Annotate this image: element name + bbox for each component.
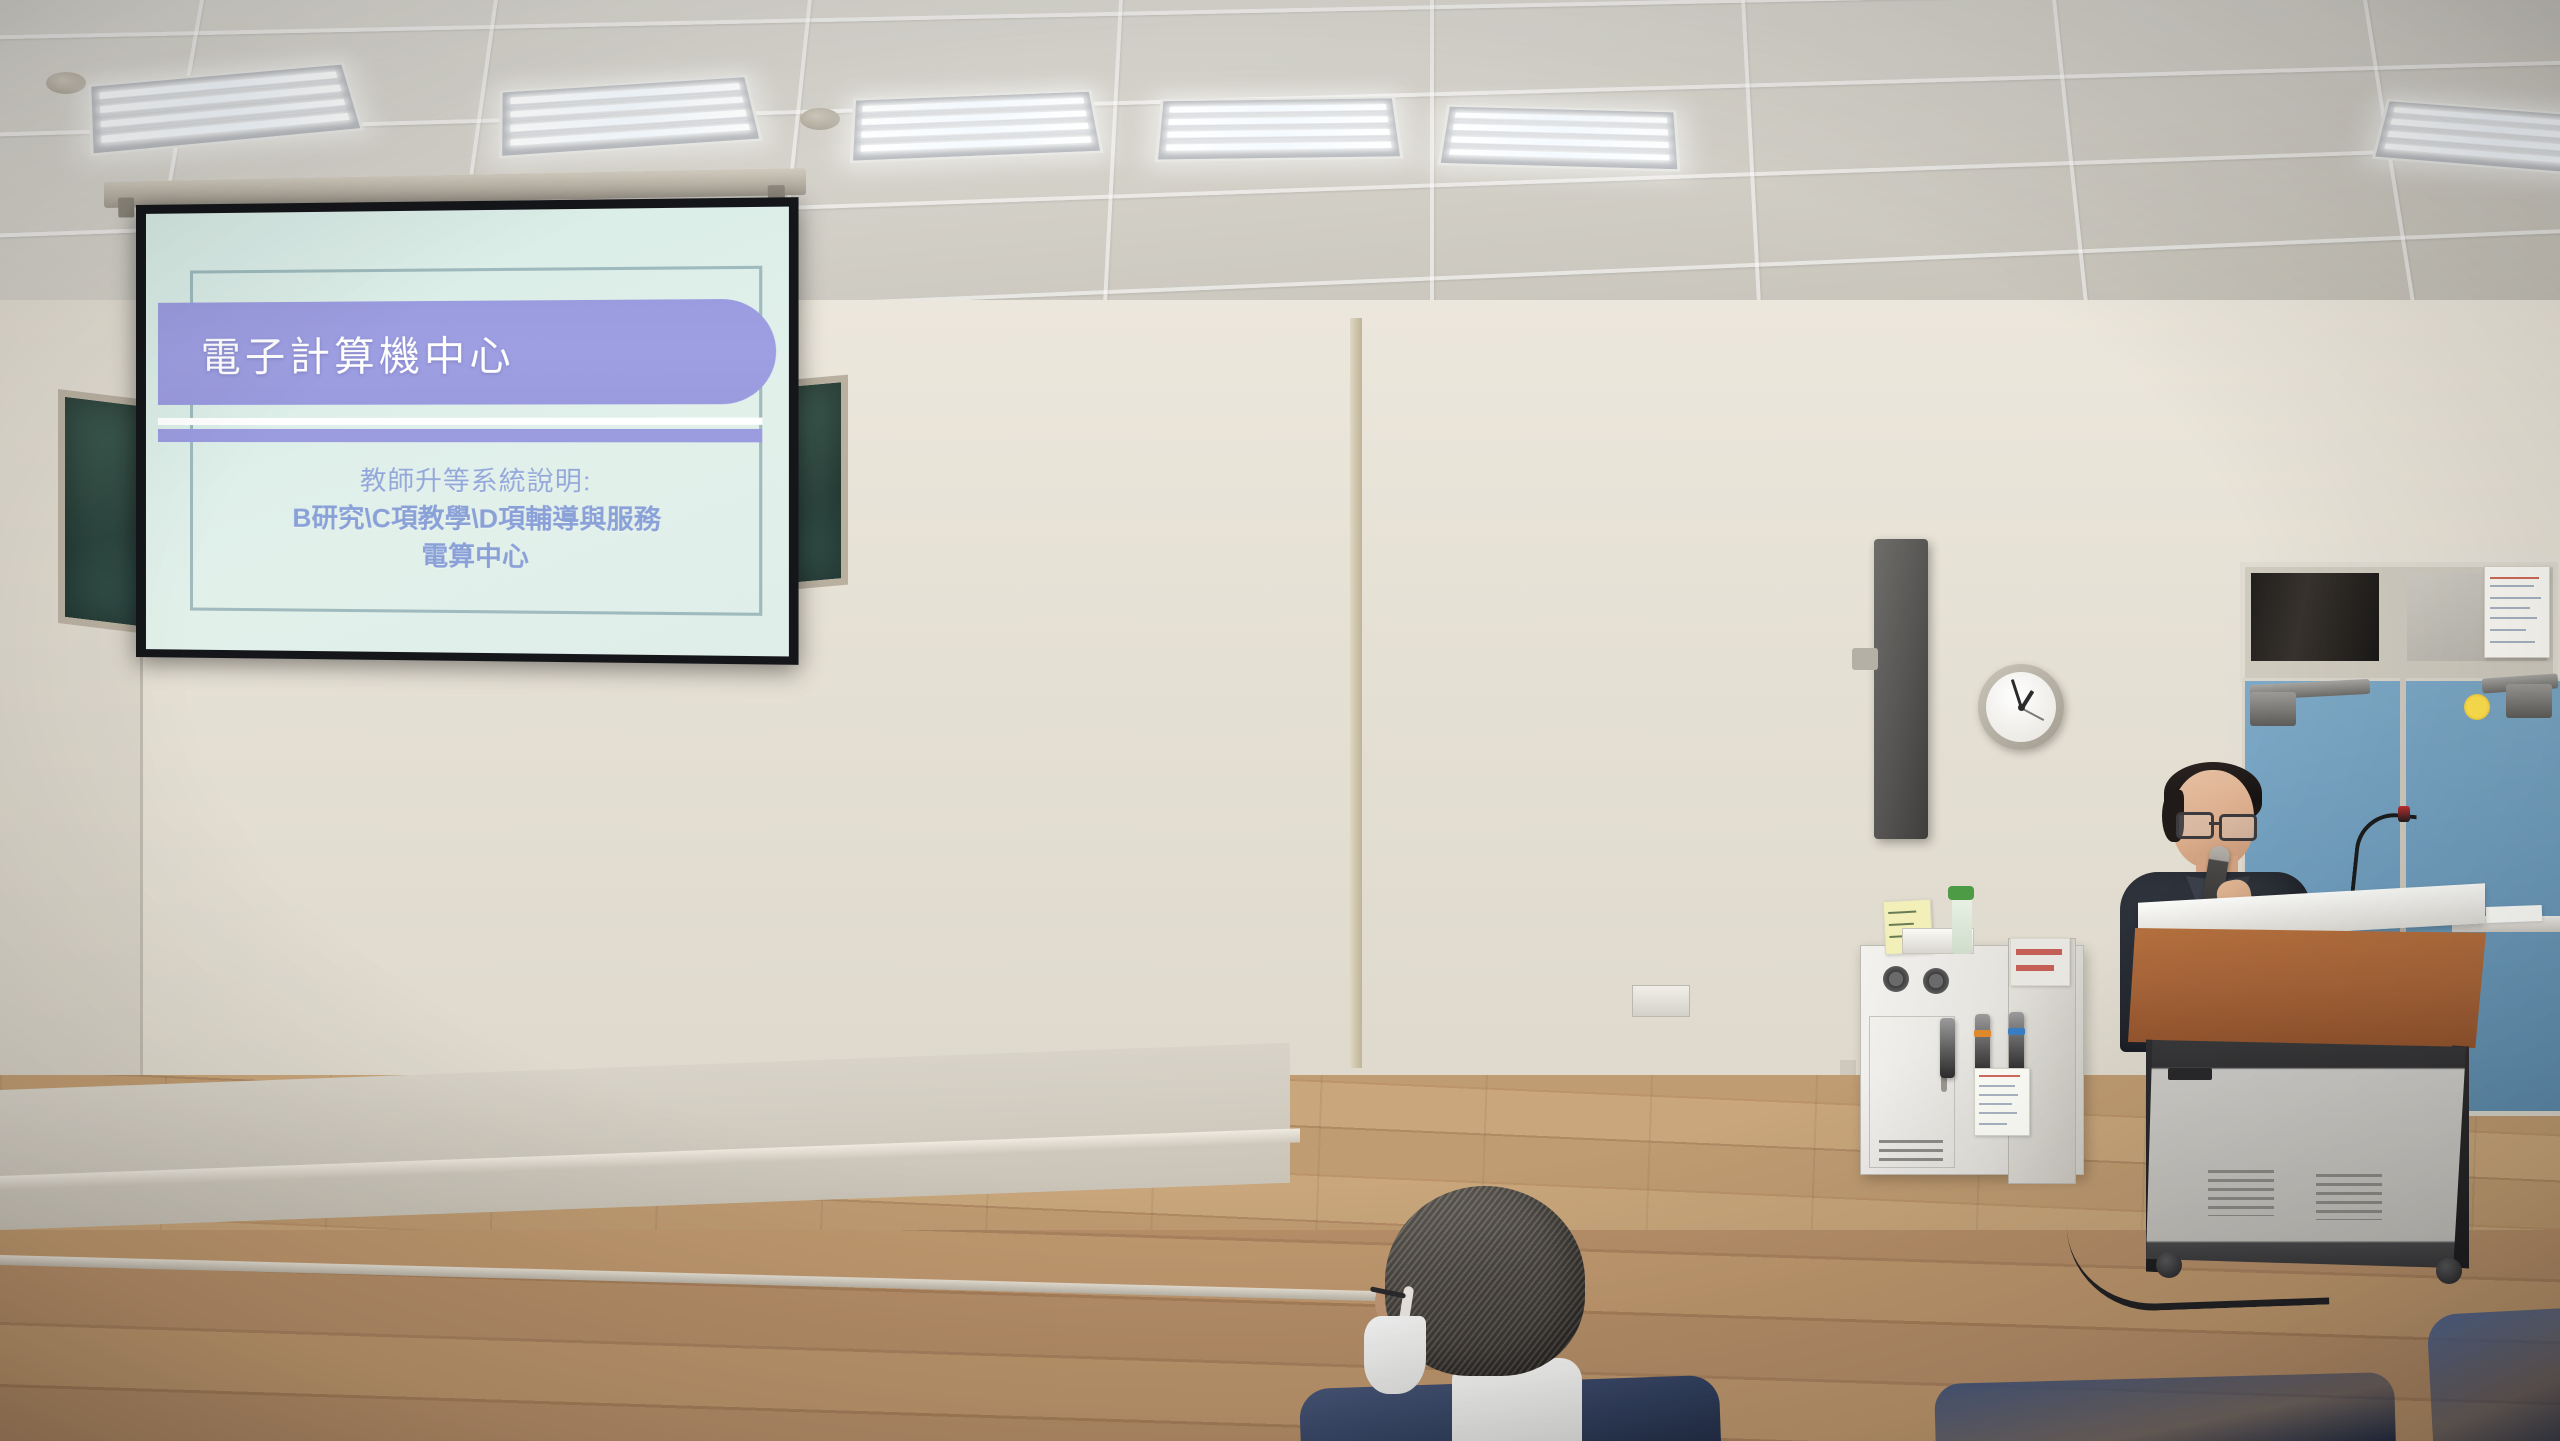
wooden-podium (2128, 928, 2486, 1048)
wall-conduit (1350, 318, 1362, 1068)
podium-vent-right (2316, 1174, 2382, 1220)
microphone-3[interactable] (2009, 1012, 2024, 1072)
spray-bottle (1952, 896, 1972, 954)
face-mask (1364, 1316, 1426, 1394)
slide-banner-underline (158, 418, 762, 425)
microphone-ring-blue (2008, 1028, 2025, 1035)
ceiling-light (2372, 99, 2560, 178)
wall-notice-poster (2484, 566, 2550, 658)
door-closer-body (2506, 684, 2552, 718)
door-sticker-icon (2464, 694, 2490, 720)
cabinet-notice-red (2010, 938, 2070, 986)
presenter-glasses-bridge (2209, 822, 2221, 825)
microphone-ring-orange (1974, 1030, 1991, 1037)
smoke-detector-icon (800, 108, 840, 130)
microphone-1[interactable] (1940, 1018, 1955, 1078)
cabinet-vent (1879, 1140, 1943, 1166)
podium-drawer-handle[interactable] (2168, 1068, 2212, 1080)
microphone-2[interactable] (1975, 1014, 1990, 1074)
ceiling-light (1437, 105, 1680, 172)
slide-surface: 電子計算機中心 教師升等系統說明: B研究\C項教學\D項輔導與服務 電算中心 (146, 207, 789, 657)
ceiling-light (850, 90, 1104, 163)
slide-subtitle: 教師升等系統說明: B研究\C項教學\D項輔導與服務 電算中心 (196, 462, 762, 577)
gooseneck-mic-head (2398, 806, 2410, 822)
slide-banner-strip (158, 429, 762, 442)
paper-on-table (2486, 905, 2543, 923)
cabinet-fan-icon (1883, 966, 1909, 992)
presenter-glasses (2219, 814, 2257, 841)
podium-vent-left (2208, 1170, 2274, 1216)
transom-pane-dark (2251, 573, 2379, 661)
ceiling-light (1155, 96, 1404, 162)
speaker-bracket (1852, 648, 1878, 670)
slide-title: 電子計算機中心 (200, 323, 514, 383)
podium-caster (2436, 1258, 2462, 1284)
slide-title-banner: 電子計算機中心 (158, 299, 775, 405)
wall-speaker (1874, 539, 1928, 839)
projection-screen: 電子計算機中心 教師升等系統說明: B研究\C項教學\D項輔導與服務 電算中心 (136, 197, 799, 665)
slide-subtitle-line-2: B研究\C項教學\D項輔導與服務 (196, 499, 762, 539)
clock-center-pin (2018, 704, 2025, 711)
slide-subtitle-line-3: 電算中心 (196, 536, 762, 577)
cabinet-notice-blue (1974, 1068, 2030, 1136)
clock-face (1986, 672, 2056, 742)
presenter-glasses (2176, 812, 2214, 839)
ceiling-light (499, 75, 763, 158)
smoke-detector-icon (46, 72, 86, 94)
audience-chair (1934, 1372, 2396, 1441)
cabinet-fan-icon (1923, 968, 1949, 994)
wall-outlet (1632, 985, 1690, 1017)
wall-clock (1978, 664, 2064, 750)
audience-chair (2426, 1305, 2560, 1441)
door-closer-body (2250, 692, 2296, 726)
ceiling-light (88, 62, 364, 156)
slide-subtitle-line-1: 教師升等系統說明: (196, 462, 762, 501)
lecture-hall-photo: 電子計算機中心 教師升等系統說明: B研究\C項教學\D項輔導與服務 電算中心 (0, 0, 2560, 1441)
spray-bottle-trigger (1948, 886, 1974, 900)
